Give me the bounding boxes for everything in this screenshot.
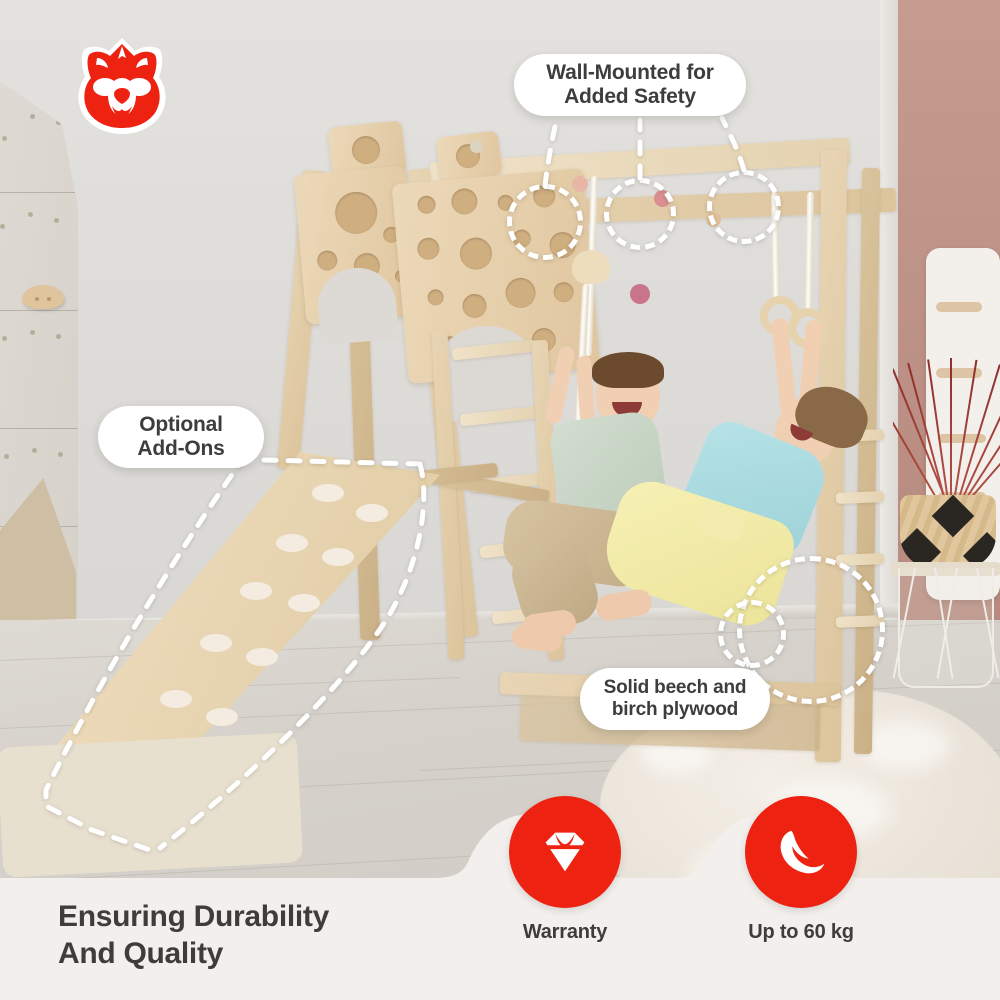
dashed-circle-mount-center: [604, 178, 676, 250]
dried-plant: [893, 338, 1000, 508]
feather-icon: [770, 821, 832, 883]
footer-headline-line1: Ensuring Durability: [58, 898, 448, 935]
callout-wall-mounted-line1: Wall-Mounted for: [546, 61, 714, 85]
footer-headline-line2: And Quality: [58, 935, 448, 972]
callout-wall-mounted[interactable]: Wall-Mounted for Added Safety: [514, 54, 746, 116]
footer-headline: Ensuring Durability And Quality: [58, 898, 448, 972]
dashed-circle-material-small: [718, 600, 786, 668]
dashed-circle-mount-right: [707, 170, 781, 244]
callout-materials[interactable]: Solid beech and birch plywood: [580, 668, 770, 730]
callout-optional-line2: Add-Ons: [137, 437, 224, 461]
callout-wall-mounted-line2: Added Safety: [564, 85, 696, 109]
badge-warranty-circle: [509, 796, 621, 908]
diamond-gem-icon: [534, 821, 596, 883]
woven-basket: [900, 495, 996, 569]
brand-logo[interactable]: [72, 32, 172, 138]
rope-handle: [572, 250, 610, 284]
badge-warranty[interactable]: Warranty: [500, 796, 630, 944]
wall-hold: [22, 285, 64, 309]
side-table-frame: [898, 568, 994, 688]
callout-materials-line2: birch plywood: [612, 699, 738, 721]
dashed-circle-mount-left: [507, 184, 583, 260]
callout-materials-line1: Solid beech and: [604, 677, 747, 699]
badge-capacity-circle: [745, 796, 857, 908]
callout-optional-line1: Optional: [139, 413, 223, 437]
red-panda-head-icon: [72, 32, 172, 138]
callout-optional-addons[interactable]: Optional Add-Ons: [98, 406, 264, 468]
badge-capacity[interactable]: Up to 60 kg: [736, 796, 866, 944]
badge-warranty-label: Warranty: [500, 921, 630, 944]
badge-capacity-label: Up to 60 kg: [736, 921, 866, 944]
poster-canvas: Wall-Mounted for Added Safety Optional A…: [0, 0, 1000, 1000]
